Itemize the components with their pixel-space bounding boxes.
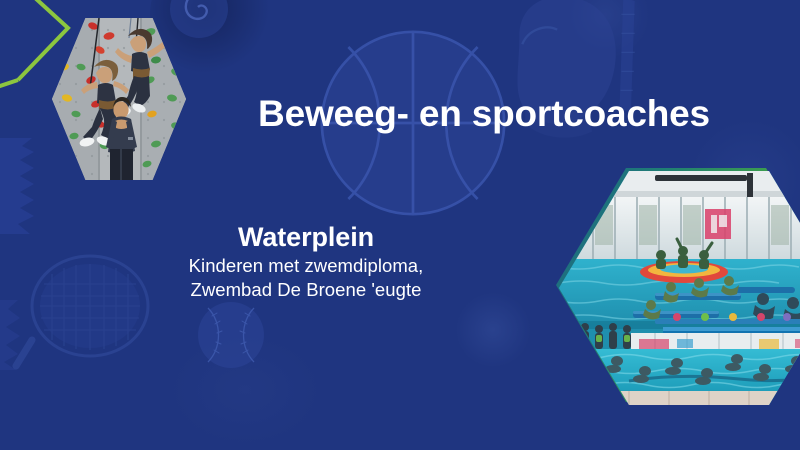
slide-canvas: Beweeg- en sportcoaches Waterplein Kinde… <box>0 0 800 450</box>
decorative-oval <box>455 292 531 368</box>
baseball-icon <box>196 300 266 370</box>
zigzag-strip <box>0 138 38 234</box>
decorative-oval <box>560 0 650 60</box>
climbing-wall-image <box>52 18 186 180</box>
content-text-block: Waterplein Kinderen met zwemdiploma, Zwe… <box>86 222 526 303</box>
climbing-wall-photo <box>52 18 186 180</box>
swimming-pool-image <box>559 171 800 405</box>
subtitle: Waterplein <box>86 222 526 254</box>
swimming-pool-photo <box>556 168 800 402</box>
page-title: Beweeg- en sportcoaches <box>196 94 772 135</box>
description-line-1: Kinderen met zwemdiploma, <box>86 254 526 278</box>
zigzag-strip <box>0 300 24 370</box>
decorative-oval <box>170 335 320 445</box>
description-line-2: Zwembad De Broene 'eugte <box>86 278 526 302</box>
